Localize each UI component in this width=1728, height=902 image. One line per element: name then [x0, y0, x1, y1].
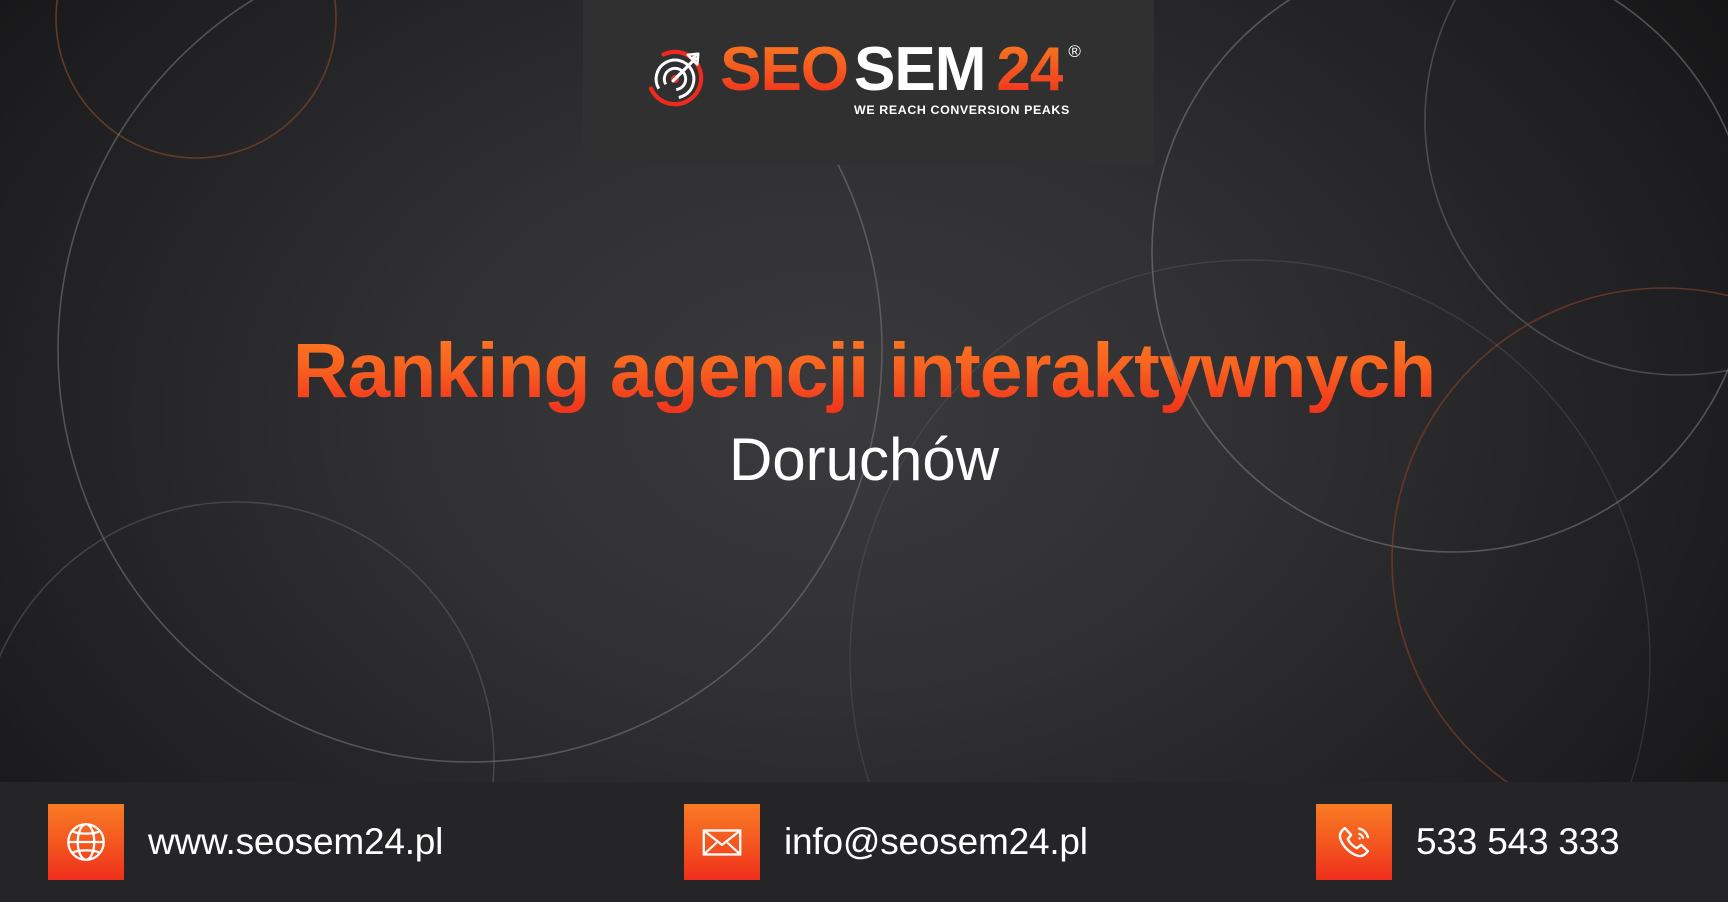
- hero-block: Ranking agencji interaktywnych Doruchów: [0, 330, 1728, 493]
- logo-wordmark: SEO SEM 24 ® WE REACH CONVERSION PEAKS: [720, 40, 1081, 117]
- contact-website[interactable]: www.seosem24.pl: [48, 804, 443, 880]
- registered-mark-icon: ®: [1068, 44, 1081, 60]
- logo-panel: SEO SEM 24 ® WE REACH CONVERSION PEAKS: [583, 0, 1154, 165]
- envelope-icon: [684, 804, 760, 880]
- website-label: www.seosem24.pl: [148, 821, 443, 863]
- target-dart-icon: [644, 47, 706, 109]
- logo-tagline: WE REACH CONVERSION PEAKS: [854, 103, 1081, 117]
- page-subtitle: Doruchów: [729, 427, 999, 493]
- phone-call-icon: [1316, 804, 1392, 880]
- logo-lockup: SEO SEM 24 ® WE REACH CONVERSION PEAKS: [644, 40, 1081, 117]
- phone-label: 533 543 333: [1416, 821, 1620, 863]
- contact-footer: www.seosem24.pl info@seosem24.pl: [0, 782, 1728, 902]
- contact-phone[interactable]: 533 543 333: [1316, 804, 1620, 880]
- slide-canvas: SEO SEM 24 ® WE REACH CONVERSION PEAKS R…: [0, 0, 1728, 902]
- page-title: Ranking agencji interaktywnych: [293, 330, 1435, 413]
- globe-icon: [48, 804, 124, 880]
- email-label: info@seosem24.pl: [784, 821, 1088, 863]
- logo-seo-text: SEO: [720, 40, 848, 100]
- logo-sem-text: SEM: [854, 40, 985, 100]
- contact-email[interactable]: info@seosem24.pl: [684, 804, 1088, 880]
- logo-number-text: 24: [996, 40, 1063, 100]
